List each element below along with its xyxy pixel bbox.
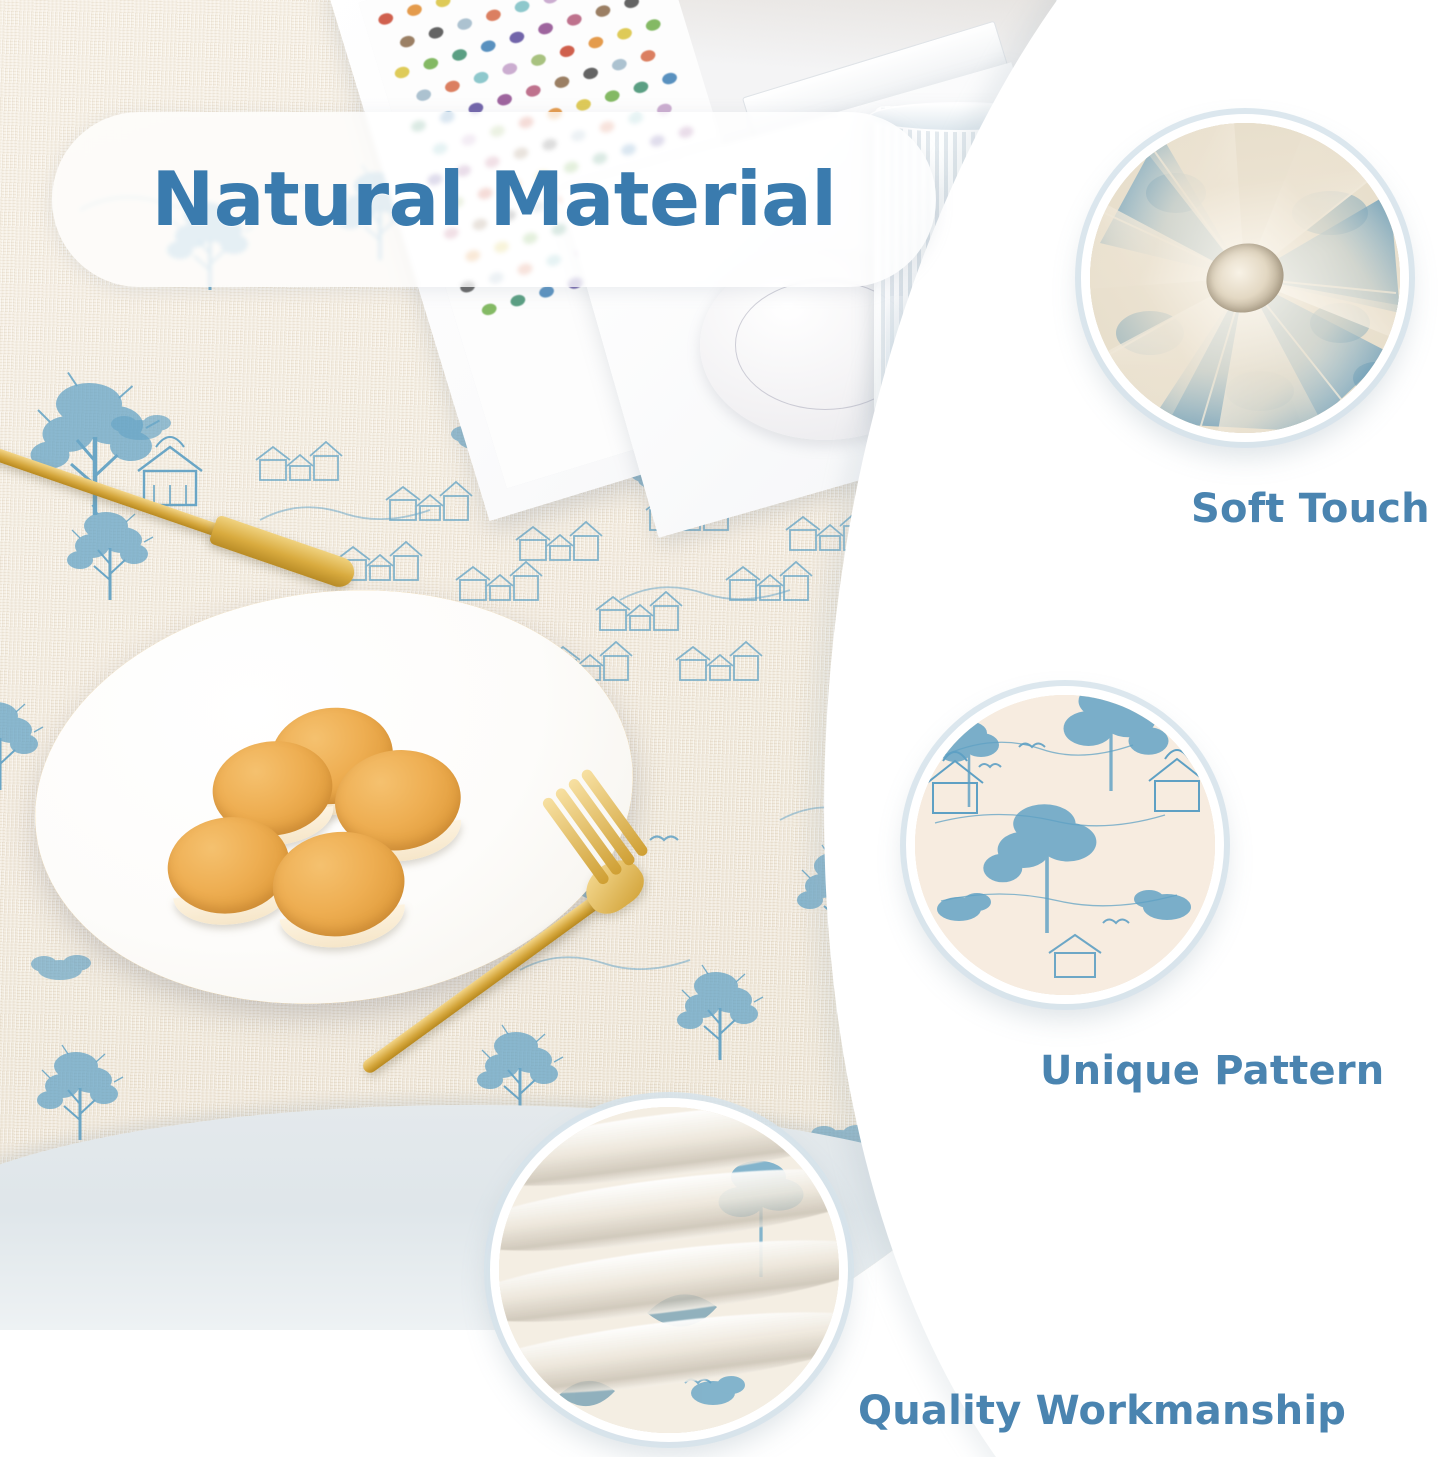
color-swatch-dot	[565, 12, 583, 27]
infographic-page: Natural Material	[0, 0, 1445, 1457]
feature-label-unique-pattern: Unique Pattern	[1040, 1048, 1384, 1094]
color-swatch-dot	[623, 0, 641, 10]
color-swatch-dot	[537, 21, 555, 36]
color-swatch-dot	[399, 34, 417, 49]
color-swatch-dot	[587, 35, 605, 50]
color-swatch-dot	[480, 302, 498, 317]
soft-touch-image	[1081, 114, 1409, 442]
feature-label-quality-workmanship: Quality Workmanship	[858, 1388, 1346, 1434]
color-swatch-dot	[393, 65, 411, 80]
unique-pattern-image	[906, 686, 1224, 1004]
color-swatch-dot	[508, 30, 526, 45]
feature-unique-pattern: Unique Pattern	[906, 686, 1224, 1004]
color-swatch-dot	[644, 18, 662, 33]
color-swatch-dot	[639, 48, 657, 63]
color-swatch-dot	[434, 0, 452, 9]
unique-pattern-fabric	[915, 695, 1215, 995]
color-swatch-dot	[582, 66, 600, 81]
color-swatch-dot	[406, 3, 424, 18]
color-swatch-dot	[451, 47, 469, 62]
color-swatch-dot	[415, 88, 433, 103]
title-banner: Natural Material	[52, 112, 936, 287]
color-swatch-dot	[485, 8, 503, 23]
color-swatch-dot	[542, 0, 560, 5]
color-swatch-dot	[575, 97, 593, 112]
color-swatch-dot	[632, 80, 650, 95]
color-swatch-dot	[530, 53, 548, 68]
color-swatch-dot	[444, 79, 462, 94]
color-swatch-dot	[553, 75, 571, 90]
color-swatch-dot	[594, 4, 612, 19]
color-swatch-dot	[501, 61, 519, 76]
color-swatch-dot	[472, 70, 490, 85]
color-swatch-dot	[603, 89, 621, 104]
feature-label-soft-touch: Soft Touch	[1191, 486, 1430, 532]
color-swatch-dot	[611, 57, 629, 72]
color-swatch-dot	[661, 71, 679, 86]
color-swatch-dot	[496, 92, 514, 107]
color-swatch-dot	[479, 39, 497, 54]
quality-workmanship-image	[490, 1098, 848, 1442]
page-title: Natural Material	[151, 162, 836, 237]
color-swatch-dot	[427, 25, 445, 40]
color-swatch-dot	[377, 11, 395, 26]
color-swatch-dot	[509, 293, 527, 308]
feature-quality-workmanship: Quality Workmanship	[490, 1098, 848, 1442]
color-swatch-dot	[558, 44, 576, 59]
fabric-swirl	[1090, 123, 1400, 433]
color-swatch-dot	[524, 84, 542, 99]
color-swatch-dot	[513, 0, 531, 14]
color-swatch-dot	[616, 26, 634, 41]
feature-soft-touch: Soft Touch	[1081, 114, 1409, 442]
color-swatch-dot	[456, 17, 474, 32]
color-swatch-dot	[422, 56, 440, 71]
